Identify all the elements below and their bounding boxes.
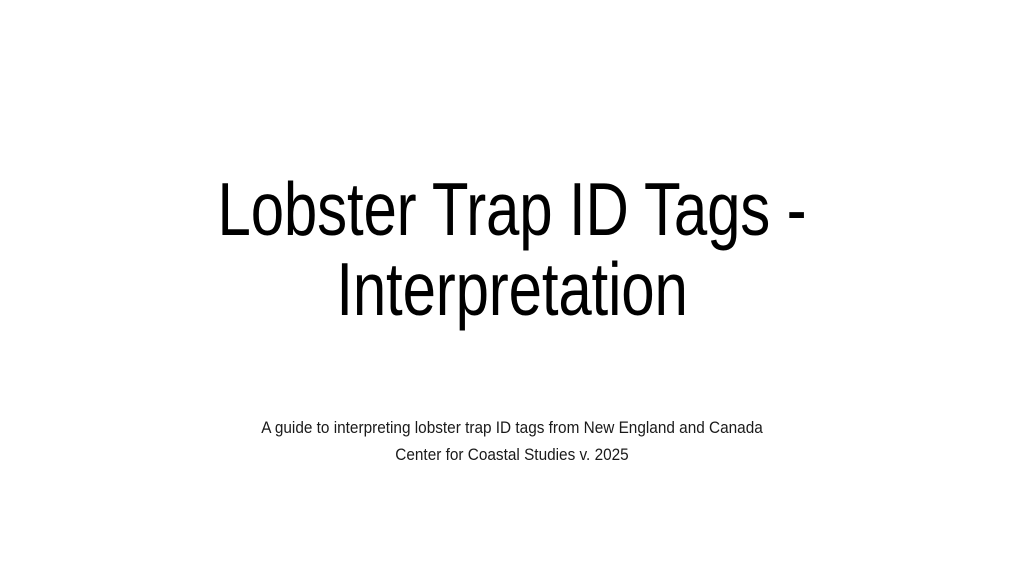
subtitle-line-1: A guide to interpreting lobster trap ID …	[140, 415, 884, 442]
page-title: Lobster Trap ID Tags - Interpretation	[174, 170, 849, 329]
title-slide: Lobster Trap ID Tags - Interpretation A …	[0, 0, 1024, 576]
subtitle-placeholder: A guide to interpreting lobster trap ID …	[112, 415, 912, 468]
subtitle-line-2: Center for Coastal Studies v. 2025	[140, 442, 884, 469]
title-line-2: Interpretation	[336, 247, 687, 331]
title-line-1: Lobster Trap ID Tags -	[218, 167, 807, 251]
title-placeholder: Lobster Trap ID Tags - Interpretation	[90, 170, 934, 329]
